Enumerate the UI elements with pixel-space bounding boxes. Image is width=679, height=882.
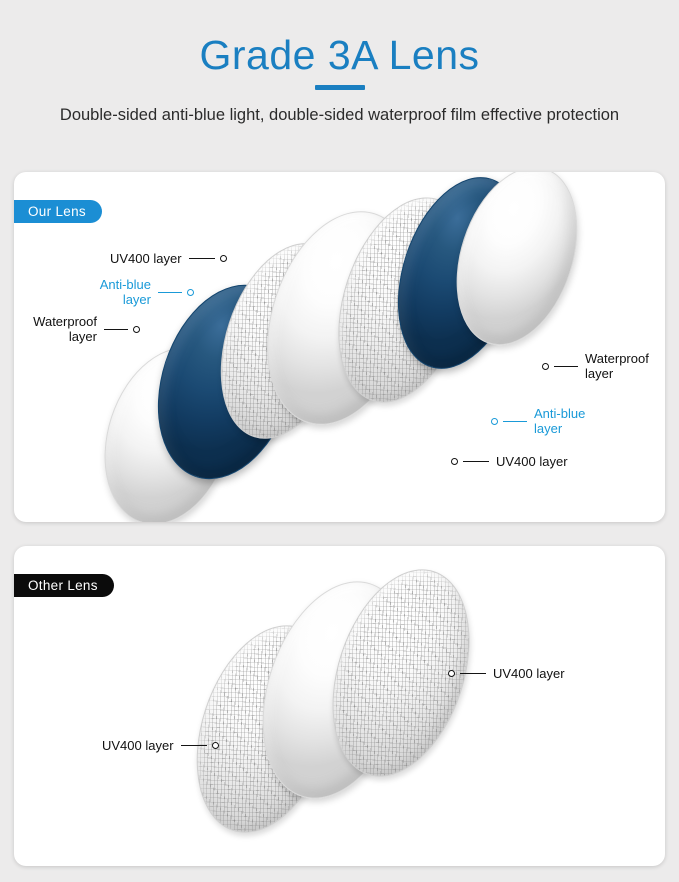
leader-endpoint-dot bbox=[491, 418, 498, 425]
other-lens-diagram: UV400 layer UV400 layer bbox=[14, 546, 665, 866]
callout-uv400-right: UV400 layer bbox=[451, 454, 568, 469]
leader-line bbox=[189, 258, 215, 259]
leader-endpoint-dot bbox=[220, 255, 227, 262]
leader-line bbox=[463, 461, 489, 462]
other-callout-uv400-left: UV400 layer bbox=[102, 738, 219, 753]
other-lens-badge: Other Lens bbox=[14, 574, 114, 597]
callout-anti-blue-left: Anti-blue layer bbox=[77, 277, 194, 307]
page-title: Grade 3A Lens bbox=[0, 34, 679, 77]
callout-waterproof-left: Waterproof layer bbox=[23, 314, 140, 344]
callout-label: UV400 layer bbox=[102, 738, 174, 753]
callout-label: Waterproof layer bbox=[585, 351, 659, 381]
leader-endpoint-dot bbox=[133, 326, 140, 333]
leader-endpoint-dot bbox=[451, 458, 458, 465]
callout-label: Anti-blue layer bbox=[534, 406, 608, 436]
callout-label: Anti-blue layer bbox=[77, 277, 151, 307]
leader-line bbox=[554, 366, 578, 367]
our-lens-card: Our Lens UV400 layer Anti-blue layer Wa bbox=[14, 172, 665, 522]
leader-endpoint-dot bbox=[448, 670, 455, 677]
callout-uv400-left: UV400 layer bbox=[110, 251, 227, 266]
leader-line bbox=[503, 421, 527, 422]
other-callout-uv400-right: UV400 layer bbox=[448, 666, 565, 681]
our-lens-diagram: UV400 layer Anti-blue layer Waterproof l… bbox=[14, 172, 665, 522]
leader-endpoint-dot bbox=[212, 742, 219, 749]
callout-label: UV400 layer bbox=[493, 666, 565, 681]
leader-line bbox=[181, 745, 207, 746]
our-lens-badge-label: Our Lens bbox=[28, 204, 86, 219]
leader-line bbox=[460, 673, 486, 674]
callout-anti-blue-right: Anti-blue layer bbox=[491, 406, 608, 436]
title-underline-accent bbox=[315, 85, 365, 90]
leader-line bbox=[104, 329, 128, 330]
callout-label: Waterproof layer bbox=[23, 314, 97, 344]
leader-endpoint-dot bbox=[542, 363, 549, 370]
other-lens-badge-label: Other Lens bbox=[28, 578, 98, 593]
our-lens-badge: Our Lens bbox=[14, 200, 102, 223]
page-header: Grade 3A Lens Double-sided anti-blue lig… bbox=[0, 0, 679, 127]
leader-endpoint-dot bbox=[187, 289, 194, 296]
callout-waterproof-right: Waterproof layer bbox=[542, 351, 659, 381]
callout-label: UV400 layer bbox=[496, 454, 568, 469]
other-lens-card: Other Lens UV400 layer UV400 layer bbox=[14, 546, 665, 866]
page-subtitle: Double-sided anti-blue light, double-sid… bbox=[60, 104, 620, 127]
leader-line bbox=[158, 292, 182, 293]
callout-label: UV400 layer bbox=[110, 251, 182, 266]
